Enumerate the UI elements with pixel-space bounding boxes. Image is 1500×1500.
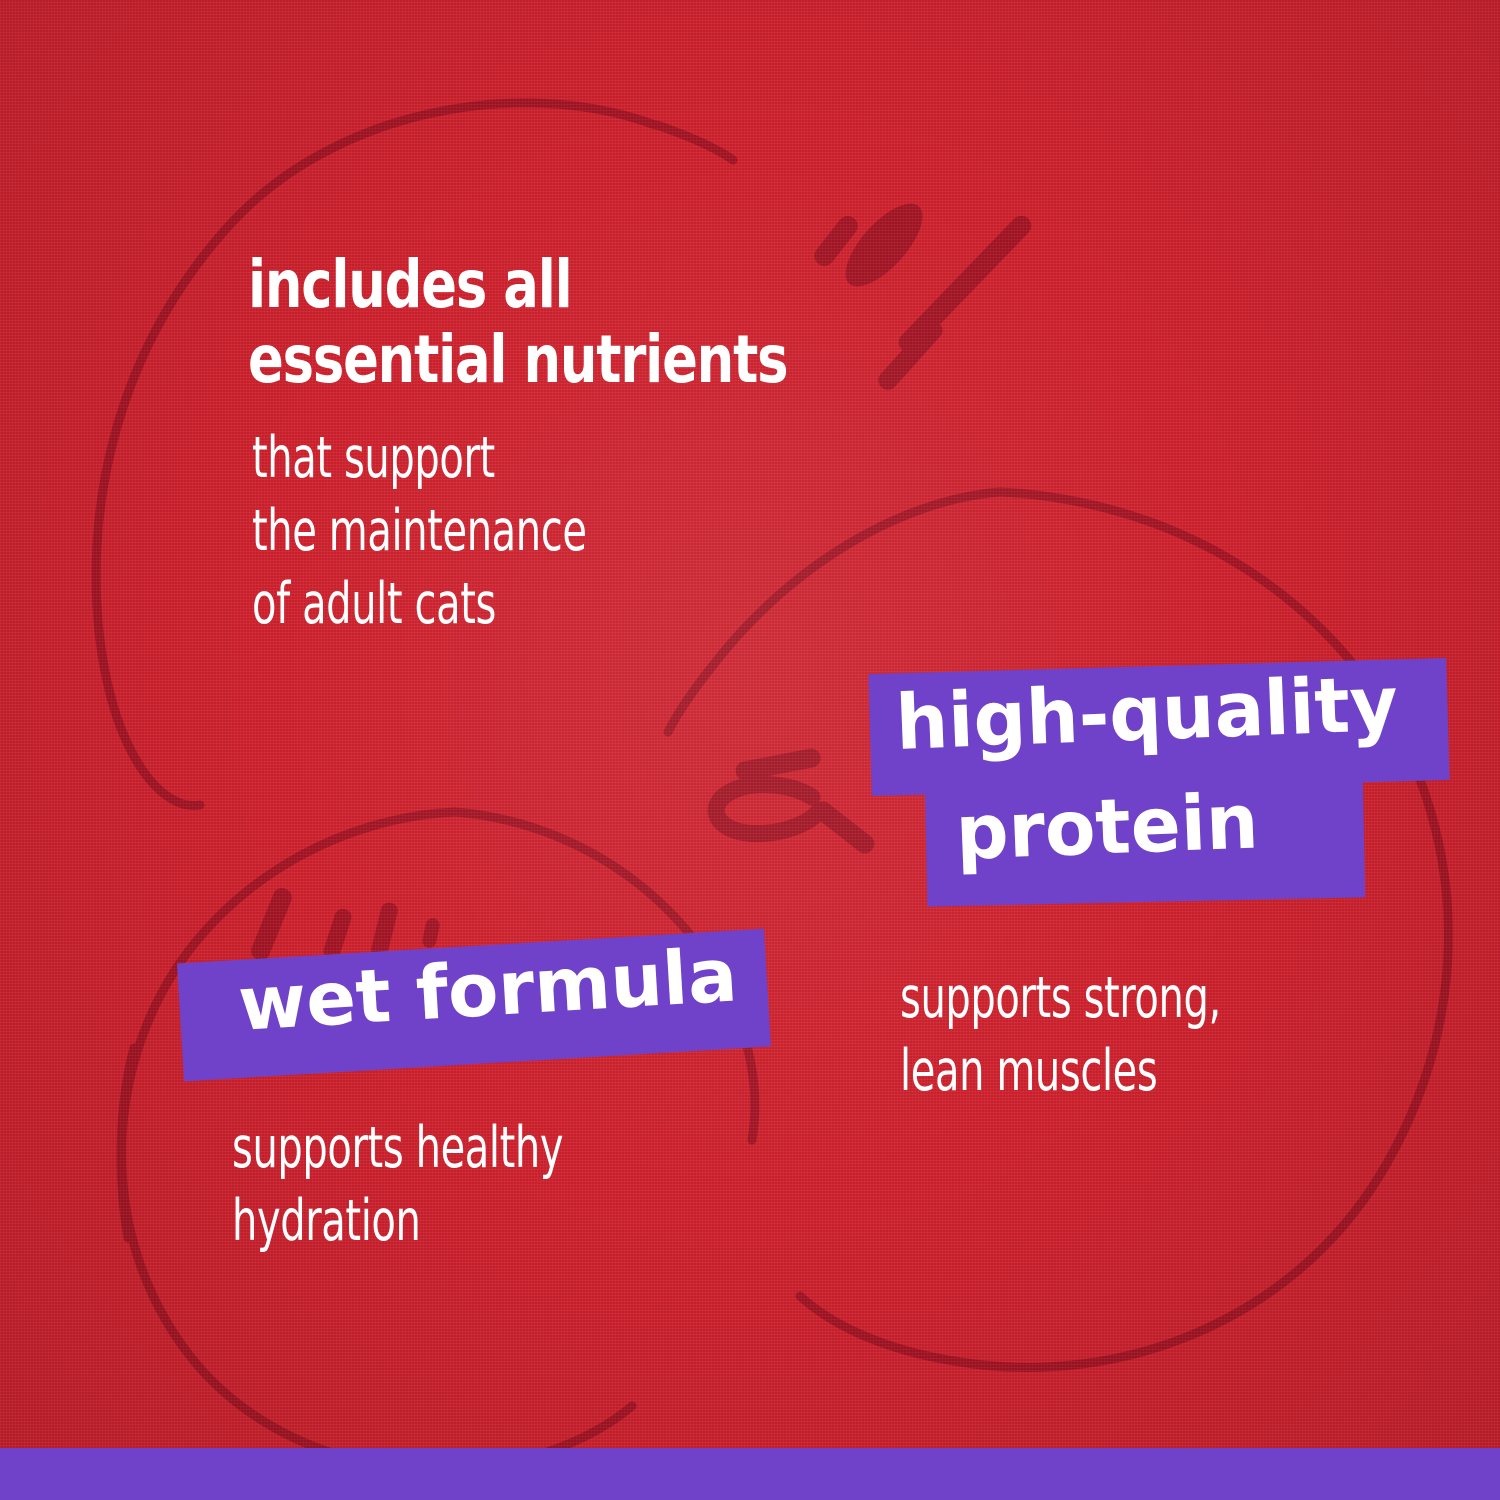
wet-formula-body-line-1: supports healthy: [232, 1112, 563, 1185]
nutrients-body-line-2: the maintenance: [252, 495, 587, 568]
wet-formula-badge: wet formula: [180, 936, 790, 1086]
protein-body-line-1: supports strong,: [900, 962, 1221, 1035]
protein-badge-line-2: protein: [954, 776, 1260, 877]
bottom-accent-band: [0, 1448, 1500, 1500]
squiggle-dash-upper-icon: [734, 747, 822, 782]
nutrients-body-line-3: of adult cats: [252, 568, 587, 641]
right-circle-icon: [800, 492, 1448, 1367]
product-feature-poster: includes all essential nutrients that su…: [0, 0, 1500, 1500]
squiggle-loop-icon: [716, 785, 818, 834]
nutrients-headline-line-2: essential nutrients: [248, 323, 787, 398]
nutrients-headline-line-1: includes all: [248, 248, 787, 323]
top-left-circle-tail-icon: [657, 125, 733, 160]
nutrients-body-line-1: that support: [252, 422, 587, 495]
wet-formula-body-copy: supports healthy hydration: [232, 1112, 657, 1258]
bottom-left-circle-inner-arc-icon: [121, 1048, 134, 1238]
nutrients-headline: includes all essential nutrients: [248, 248, 922, 397]
high-quality-protein-badge: high-quality protein: [848, 648, 1448, 918]
protein-body-line-2: lean muscles: [900, 1035, 1221, 1108]
protein-body-copy: supports strong, lean muscles: [900, 962, 1311, 1108]
nutrients-body-copy: that support the maintenance of adult ca…: [252, 422, 681, 641]
wet-formula-body-line-2: hydration: [232, 1185, 563, 1258]
